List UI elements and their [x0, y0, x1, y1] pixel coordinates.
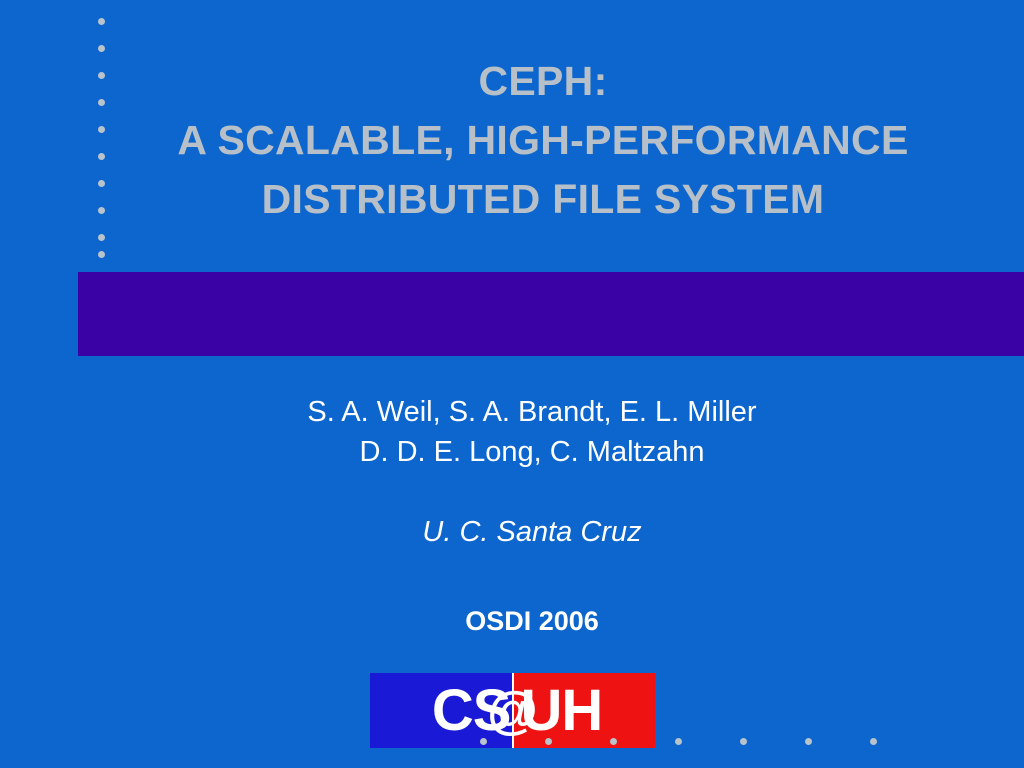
affiliation-text: U. C. Santa Cruz — [62, 516, 1002, 549]
decoration-dot — [98, 18, 105, 25]
decoration-dot — [740, 738, 747, 745]
decoration-dot — [675, 738, 682, 745]
author-list: S. A. Weil, S. A. Brandt, E. L. Miller D… — [62, 392, 1002, 472]
at-icon: @ — [487, 685, 538, 737]
decoration-dot — [98, 251, 105, 258]
decoration-dot — [98, 234, 105, 241]
title-line-2: A SCALABLE, HIGH-PERFORMANCE — [78, 111, 1008, 170]
decoration-dot — [545, 738, 552, 745]
slide-title: CEPH: A SCALABLE, HIGH-PERFORMANCE DISTR… — [78, 52, 1008, 229]
decoration-dot — [610, 738, 617, 745]
author-line-2: D. D. E. Long, C. Maltzahn — [62, 432, 1002, 472]
title-line-3: DISTRIBUTED FILE SYSTEM — [78, 170, 1008, 229]
author-line-1: S. A. Weil, S. A. Brandt, E. L. Miller — [62, 392, 1002, 432]
decoration-dot — [805, 738, 812, 745]
bottom-dot-decoration — [480, 736, 1020, 750]
accent-bar — [78, 272, 1024, 356]
decoration-dot — [870, 738, 877, 745]
venue-text: OSDI 2006 — [62, 606, 1002, 637]
slide-canvas: CEPH: A SCALABLE, HIGH-PERFORMANCE DISTR… — [0, 0, 1024, 768]
decoration-dot — [480, 738, 487, 745]
title-line-1: CEPH: — [78, 52, 1008, 111]
decoration-dot — [98, 45, 105, 52]
